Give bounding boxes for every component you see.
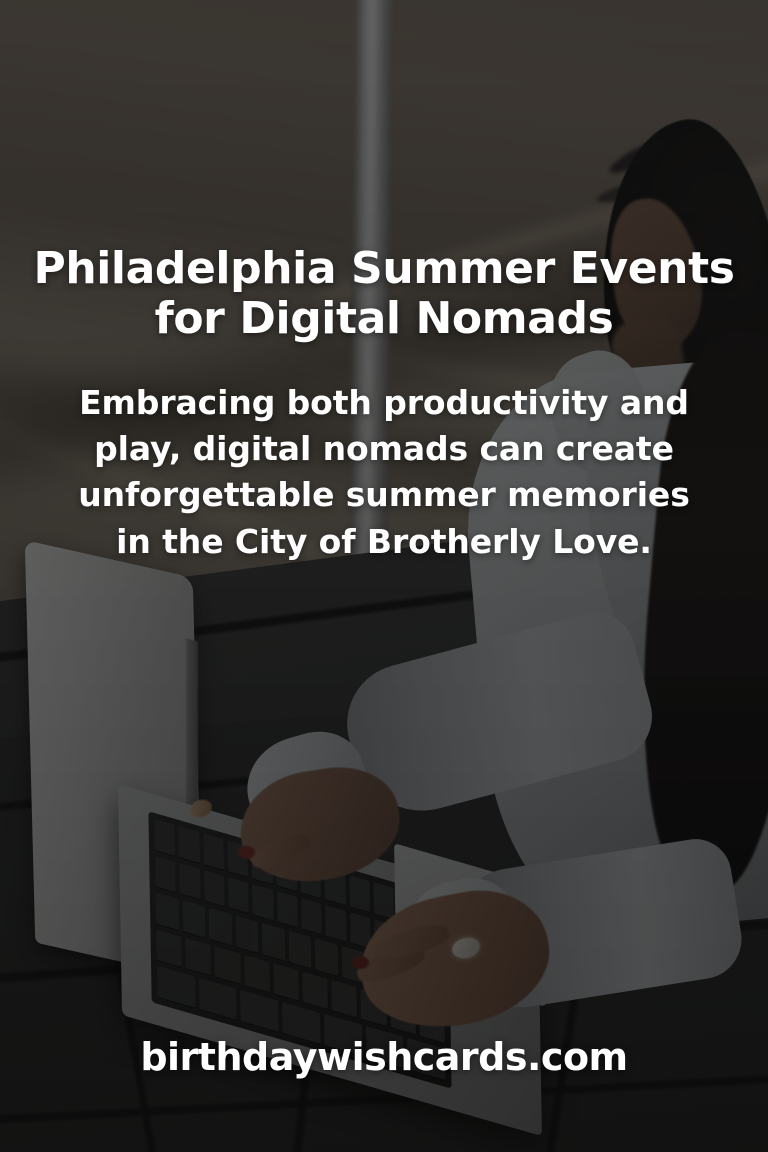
pinterest-pin-card: Philadelphia Summer Events for Digital N… — [0, 0, 768, 1152]
footer-website-url: birthdaywishcards.com — [0, 1035, 768, 1079]
page-title: Philadelphia Summer Events for Digital N… — [8, 244, 760, 344]
text-content: Philadelphia Summer Events for Digital N… — [0, 0, 768, 1152]
subtitle-text: Embracing both productivity and play, di… — [60, 380, 708, 565]
